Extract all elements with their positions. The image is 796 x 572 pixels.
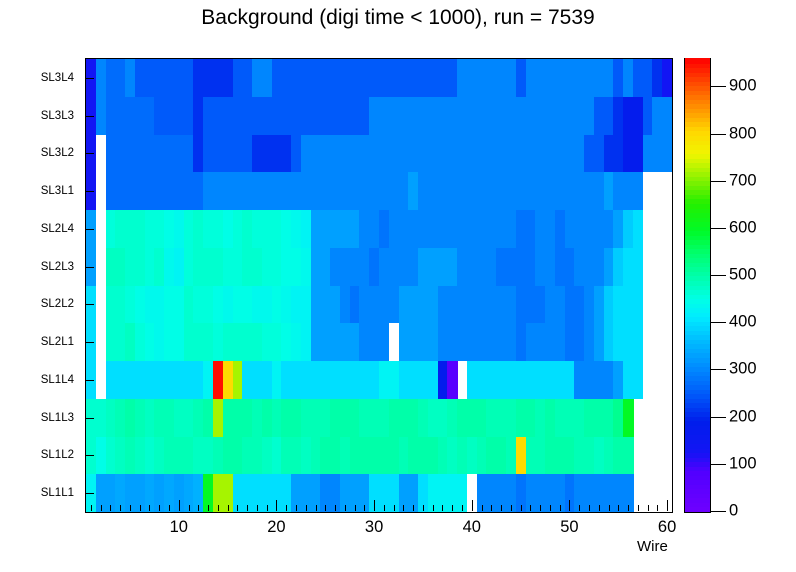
x-axis-minor-tick [140,505,141,511]
heatmap-cell [623,437,633,475]
y-axis-tick-label: SL2L3 [41,261,74,273]
color-scale-band [685,140,710,145]
color-scale-band [685,375,710,380]
color-scale-band [685,158,710,163]
color-scale-band [685,58,710,63]
x-axis-minor-tick [335,505,336,511]
color-scale-tick-label: 700 [729,171,757,190]
color-scale-band [685,104,710,109]
x-axis-minor-tick [267,505,268,511]
x-axis-minor-tick [364,505,365,511]
page-title: Background (digi time < 1000), run = 753… [0,6,796,30]
heatmap-cell [379,323,389,361]
heatmap-row [86,172,672,210]
x-axis-minor-tick [345,505,346,511]
x-axis-tick-label: 50 [560,518,578,537]
heatmap-cell [623,399,633,437]
color-scale-band [685,357,710,362]
heatmap-cell [662,59,672,97]
root-canvas: Background (digi time < 1000), run = 753… [0,0,796,572]
x-axis-minor-tick [413,505,414,511]
x-axis-minor-tick [609,505,610,511]
color-scale-band [685,298,710,303]
x-axis-minor-tick [169,505,170,511]
color-scale-band [685,339,710,344]
heatmap-row [86,399,672,437]
color-scale-band [685,439,710,444]
heatmap-cell [662,135,672,173]
y-axis-tick-label: SL1L3 [41,412,74,424]
y-axis-tick [85,380,94,381]
y-axis-tick-label: SL3L3 [41,110,74,122]
color-scale-band [685,353,710,358]
color-scale-band [685,285,710,290]
color-scale-band [685,131,710,136]
color-scale-band [685,276,710,281]
color-scale-band [685,394,710,399]
x-axis-tick-label: 60 [658,518,676,537]
color-scale-band [685,221,710,226]
x-axis-minor-tick [521,505,522,511]
heatmap-cell [633,361,643,399]
y-axis-tick-label: SL2L1 [41,336,74,348]
x-axis-minor-tick [189,505,190,511]
y-axis-tick [85,229,94,230]
color-scale-band [685,471,710,476]
x-axis-minor-tick [130,505,131,511]
color-scale-band [685,99,710,104]
heatmap-cell [633,323,643,361]
color-scale-band [685,208,710,213]
x-axis-minor-tick [394,505,395,511]
y-axis-tick-label: SL3L1 [41,185,74,197]
color-scale-band [685,86,710,91]
color-scale-band [685,81,710,86]
color-scale-band [685,317,710,322]
color-scale-band [685,258,710,263]
color-scale-band [685,122,710,127]
x-axis-minor-tick [579,505,580,511]
x-axis-major-tick [472,500,473,511]
color-scale-band [685,226,710,231]
heatmap-row [86,361,672,399]
color-scale-band [685,271,710,276]
color-scale-tick-label: 800 [729,124,757,143]
color-scale-band [685,403,710,408]
heatmap-cell [633,172,643,210]
y-axis-labels: SL3L4SL3L3SL3L2SL3L1SL2L4SL2L3SL2L2SL2L1… [0,58,80,513]
x-axis-minor-tick [530,505,531,511]
x-axis-minor-tick [296,505,297,511]
color-scale-band [685,149,710,154]
color-scale-band [685,398,710,403]
color-scale-tick [711,322,726,323]
x-axis-minor-tick [325,505,326,511]
x-axis-minor-tick [237,505,238,511]
color-scale-tick-label: 500 [729,266,757,285]
color-scale-band [685,425,710,430]
color-scale-tick-label: 400 [729,313,757,332]
x-axis-minor-tick [110,505,111,511]
y-axis-tick [85,116,94,117]
color-scale-band [685,466,710,471]
x-axis-minor-tick [218,505,219,511]
color-scale-tick-label: 100 [729,454,757,473]
color-scale-band [685,190,710,195]
x-axis-minor-tick [442,505,443,511]
x-axis-tick-label: 10 [170,518,188,537]
color-scale-band [685,443,710,448]
color-scale-band [685,484,710,489]
x-axis-minor-tick [482,505,483,511]
color-scale-band [685,307,710,312]
color-scale-band [685,126,710,131]
heatmap-plot[interactable] [86,59,672,512]
color-scale-tick [711,181,726,182]
color-scale-band [685,63,710,68]
color-scale-band [685,421,710,426]
heatmap-cell [633,286,643,324]
color-scale-band [685,366,710,371]
x-axis-minor-tick [101,505,102,511]
color-scale-band [685,330,710,335]
x-axis-minor-tick [491,505,492,511]
color-scale-band [685,262,710,267]
color-scale-band [685,240,710,245]
color-scale-band [685,448,710,453]
x-axis-minor-tick [120,505,121,511]
heatmap-cell [662,97,672,135]
x-axis-minor-tick [599,505,600,511]
x-axis-minor-tick [355,505,356,511]
color-scale-band [685,144,710,149]
x-axis-minor-tick [560,505,561,511]
x-axis-major-tick [179,500,180,511]
x-axis-major-tick [667,500,668,511]
color-scale-band [685,507,710,512]
color-scale-tick [711,417,726,418]
y-axis-tick-label: SL3L4 [41,72,74,84]
x-axis-minor-tick [638,505,639,511]
color-scale-tick-label: 900 [729,77,757,96]
heatmap-row [86,135,672,173]
heatmap-row [86,437,672,475]
color-scale-band [685,212,710,217]
color-scale-band [685,163,710,168]
color-scale-band [685,289,710,294]
x-axis-minor-tick [657,505,658,511]
y-axis-tick-label: SL1L4 [41,374,74,386]
y-axis-tick [85,191,94,192]
x-axis-minor-tick [228,505,229,511]
x-axis-title: Wire [637,538,668,555]
x-axis-minor-tick [257,505,258,511]
color-scale-band [685,416,710,421]
color-scale-band [685,493,710,498]
x-axis-minor-tick [511,505,512,511]
color-scale-tick [711,464,726,465]
color-scale-band [685,430,710,435]
color-scale-band [685,461,710,466]
color-scale-band [685,217,710,222]
color-scale-band [685,321,710,326]
x-axis-minor-tick [403,505,404,511]
x-axis-minor-tick [159,505,160,511]
y-axis-tick-label: SL2L4 [41,223,74,235]
color-scale-band [685,253,710,258]
color-scale-tick-label: 300 [729,360,757,379]
heatmap-row [86,286,672,324]
color-scale-tick-label: 600 [729,218,757,237]
color-scale-band [685,194,710,199]
color-scale-band [685,475,710,480]
color-scale-band [685,498,710,503]
color-scale-tick-label: 200 [729,407,757,426]
color-scale-band [685,67,710,72]
x-axis-minor-tick [589,505,590,511]
color-scale-band [685,480,710,485]
color-scale-band [685,489,710,494]
color-scale-bar[interactable] [684,58,711,513]
x-axis-minor-tick [501,505,502,511]
x-axis-minor-tick [540,505,541,511]
x-axis-minor-tick [316,505,317,511]
x-axis-minor-tick [91,505,92,511]
color-scale-band [685,384,710,389]
color-scale-band [685,326,710,331]
heatmap-row [86,210,672,248]
color-scale-band [685,267,710,272]
color-scale-tick [711,511,726,512]
y-axis-tick [85,418,94,419]
y-axis-tick [85,78,94,79]
color-scale-tick [711,275,726,276]
x-axis-major-tick [374,500,375,511]
y-axis-tick-label: SL3L2 [41,147,74,159]
color-scale-band [685,167,710,172]
color-scale-band [685,72,710,77]
x-axis-minor-tick [306,505,307,511]
x-axis-minor-tick [286,505,287,511]
heatmap-cell [633,248,643,286]
color-scale-band [685,362,710,367]
heatmap-cell [447,361,457,399]
color-scale-tick [711,228,726,229]
color-scale-band [685,249,710,254]
heatmap-row [86,474,672,512]
color-scale-band [685,117,710,122]
color-scale-band [685,452,710,457]
color-scale-band [685,230,710,235]
color-scale-band [685,434,710,439]
x-axis-minor-tick [384,505,385,511]
heatmap-row [86,59,672,97]
color-scale-band [685,244,710,249]
color-scale-band [685,176,710,181]
color-scale-band [685,280,710,285]
color-scale-band [685,90,710,95]
x-axis-minor-tick [462,505,463,511]
y-axis-tick-label: SL1L1 [41,487,74,499]
color-scale-band [685,181,710,186]
color-scale-band [685,312,710,317]
color-scale-band [685,294,710,299]
heatmap-row [86,97,672,135]
x-axis-tick-label: 40 [463,518,481,537]
x-axis-minor-tick [648,505,649,511]
color-scale-band [685,135,710,140]
color-scale-band [685,95,710,100]
color-scale-band [685,153,710,158]
x-axis-minor-tick [452,505,453,511]
color-scale-band [685,185,710,190]
y-axis-tick [85,342,94,343]
color-scale-band [685,344,710,349]
color-scale-band [685,303,710,308]
y-axis-tick-label: SL2L2 [41,298,74,310]
y-axis-tick [85,493,94,494]
heatmap-row [86,248,672,286]
color-scale-tick-label: 0 [729,502,738,521]
x-axis-tick-label: 20 [267,518,285,537]
color-scale-band [685,412,710,417]
x-axis-tick-label: 30 [365,518,383,537]
x-axis-minor-tick [208,505,209,511]
color-scale-band [685,407,710,412]
x-axis-minor-tick [247,505,248,511]
heatmap-frame [85,58,673,513]
color-scale-band [685,203,710,208]
color-scale-band [685,76,710,81]
x-axis-minor-tick [149,505,150,511]
color-scale-band [685,380,710,385]
heatmap-row [86,323,672,361]
x-axis-minor-tick [423,505,424,511]
x-axis-major-tick [276,500,277,511]
color-scale-band [685,348,710,353]
color-scale-tick [711,86,726,87]
color-scale-tick [711,134,726,135]
color-scale-band [685,457,710,462]
color-scale-band [685,502,710,507]
x-axis-minor-tick [618,505,619,511]
color-scale-band [685,172,710,177]
x-axis-minor-tick [198,505,199,511]
x-axis-minor-tick [550,505,551,511]
x-axis-minor-tick [628,505,629,511]
color-scale-band [685,335,710,340]
x-axis-major-tick [569,500,570,511]
color-scale-band [685,113,710,118]
color-scale-band [685,199,710,204]
y-axis-tick [85,153,94,154]
y-axis-tick-label: SL1L2 [41,449,74,461]
y-axis-tick [85,304,94,305]
x-axis-minor-tick [433,505,434,511]
y-axis-tick [85,455,94,456]
heatmap-cell [633,210,643,248]
color-scale-band [685,371,710,376]
color-scale-band [685,108,710,113]
color-scale-band [685,389,710,394]
color-scale-tick [711,369,726,370]
y-axis-tick [85,267,94,268]
color-scale-band [685,235,710,240]
